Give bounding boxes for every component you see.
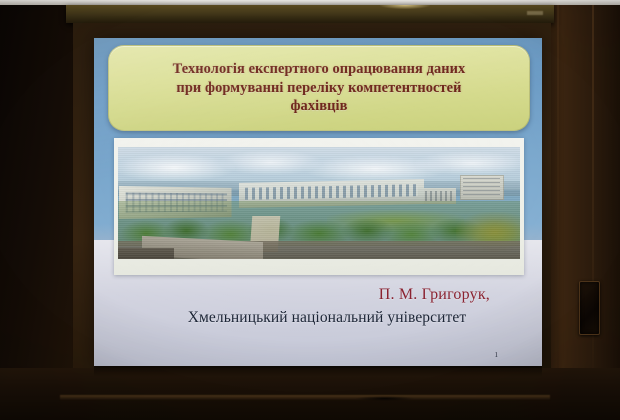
campus-photo-frame <box>114 138 524 275</box>
slide-credits: П. М. Григорук, Хмельницький національни… <box>94 286 542 327</box>
photo-distant-tower <box>460 175 504 200</box>
presentation-slide[interactable]: Технологія експертного опрацювання даних… <box>94 38 542 366</box>
photo-road <box>118 248 174 259</box>
title-line-1: Технологія експертного опрацювання даних <box>173 60 466 78</box>
roller-label-tag <box>527 11 543 15</box>
slide-number: 1 <box>495 351 499 359</box>
projection-screen-roller[interactable] <box>66 5 554 23</box>
screen-bottom-shadow <box>94 366 542 376</box>
wall-seam-right-inner <box>557 0 559 420</box>
title-line-3: фахівців <box>173 97 466 115</box>
projected-slide-photo: Технологія експертного опрацювання даних… <box>0 0 620 420</box>
campus-photo-image <box>118 147 520 259</box>
wall-ledge-fitting <box>355 396 415 401</box>
wall-seam-right <box>592 0 594 420</box>
slide-author: П. М. Григорук, <box>94 286 542 304</box>
wall-ledge <box>60 395 550 400</box>
title-line-2: при формуванні переліку компетентностей <box>173 79 466 97</box>
slide-affiliation: Хмельницький національний університет <box>94 309 542 327</box>
slide-title: Технологія експертного опрацювання даних… <box>164 60 475 115</box>
slide-title-box: Технологія експертного опрацювання даних… <box>108 45 530 131</box>
wall-switch-plate[interactable] <box>579 281 600 335</box>
roller-highlight <box>380 5 430 9</box>
